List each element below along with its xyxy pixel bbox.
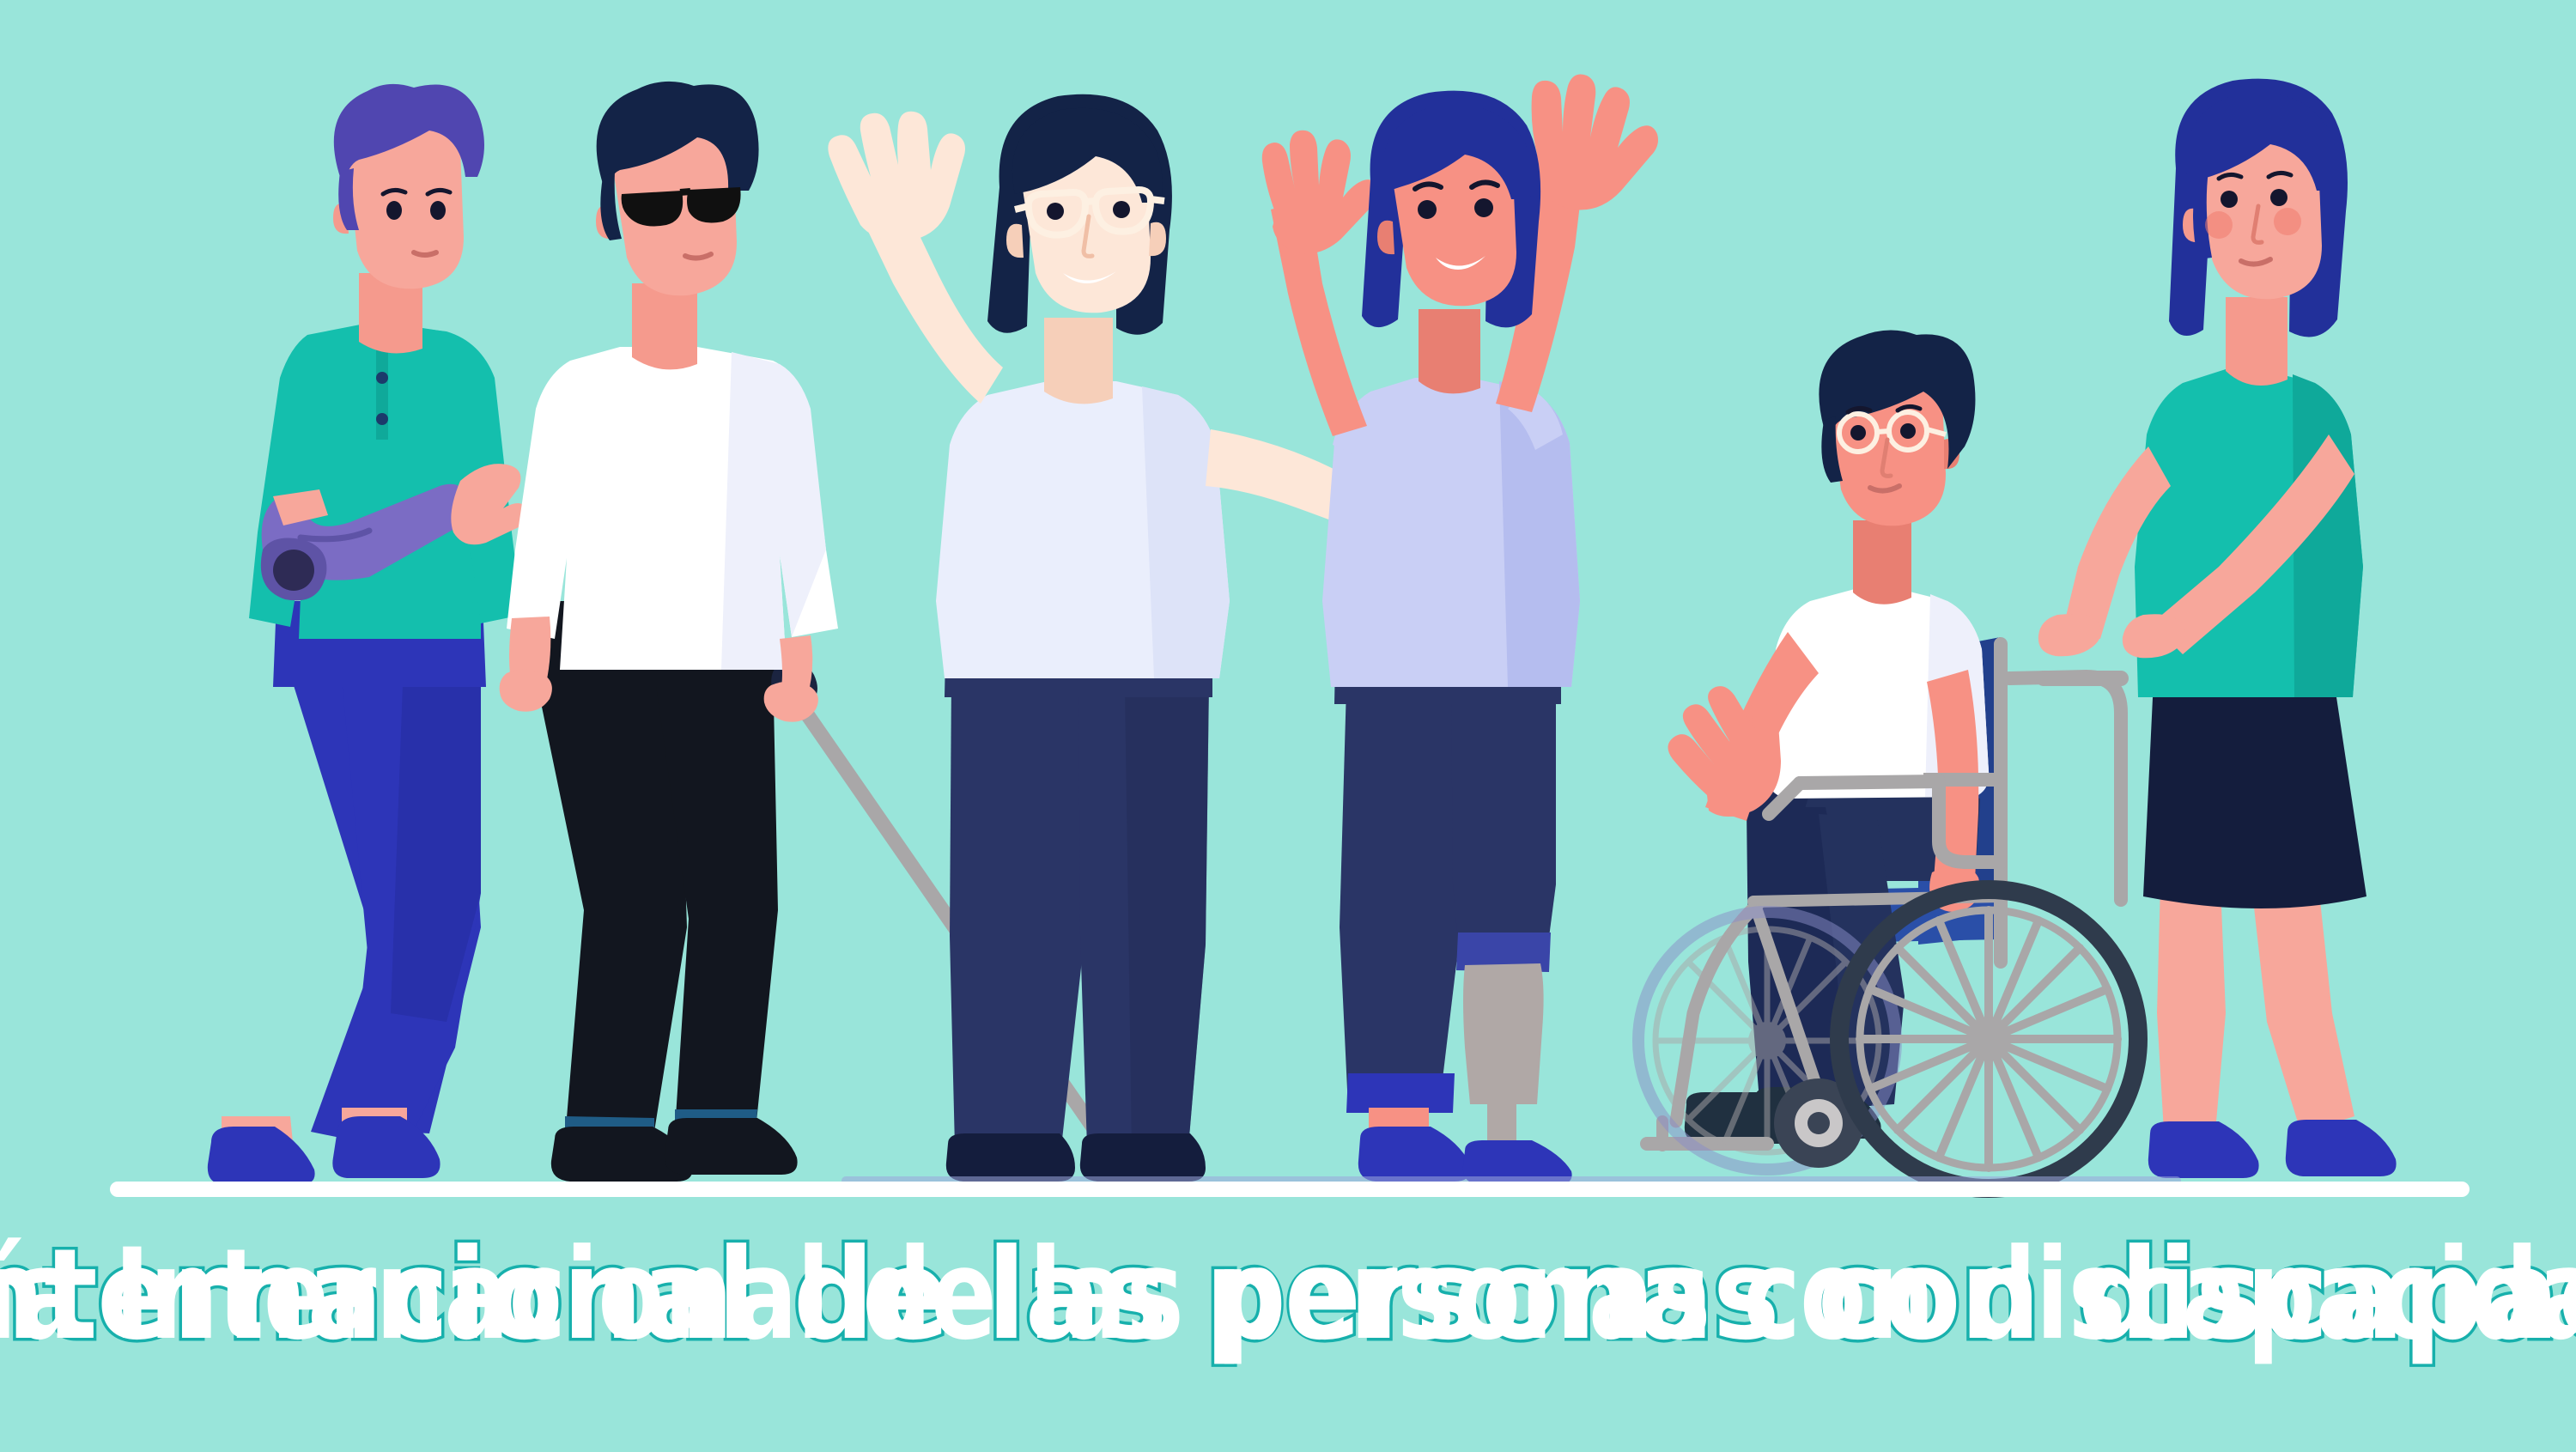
prosthetic-joint-core (273, 550, 314, 591)
neck-2 (632, 283, 697, 369)
neck-4 (1419, 309, 1480, 393)
illustration-scene (0, 0, 2576, 1452)
poster-canvas: Día Internacional de las personas con di… (0, 0, 2576, 1452)
eye-left-3 (1047, 203, 1064, 220)
mouth (414, 252, 436, 255)
wc-eye-left (1850, 425, 1866, 440)
sunglass-bridge (680, 191, 690, 192)
eye-right (430, 201, 446, 220)
wc-neck (1853, 520, 1911, 604)
trouser-left-3 (950, 678, 1089, 1147)
shirt-placket (376, 345, 388, 440)
shirt-button-2 (376, 413, 388, 425)
eye-left-4 (1418, 200, 1437, 219)
prosthetic-socket (1463, 963, 1544, 1104)
eye-right-4 (1474, 198, 1493, 217)
shirt-button-1 (376, 372, 388, 384)
chair-armrest-top (1800, 781, 1939, 783)
wc-eye-right (1900, 423, 1916, 439)
blush-left-6 (2205, 211, 2233, 239)
leg-back-6 (2157, 884, 2226, 1132)
eye-right-3 (1113, 201, 1130, 218)
shoe-right-3 (1080, 1133, 1206, 1182)
eye-left (386, 201, 402, 220)
wheel-rear-near (1839, 890, 2138, 1188)
trouser-right-4 (1451, 687, 1556, 963)
eye-right-6 (2270, 189, 2287, 206)
trouser-left-4 (1340, 687, 1460, 1108)
skirt-6 (2143, 680, 2366, 908)
neck-6 (2226, 297, 2287, 386)
trouser-cuff-4 (1346, 1073, 1455, 1113)
blush-right-6 (2274, 208, 2301, 235)
eye-left-6 (2221, 191, 2238, 208)
neck-3 (1044, 318, 1113, 404)
shoe-left-3 (946, 1133, 1075, 1182)
ground-line (110, 1182, 2470, 1197)
